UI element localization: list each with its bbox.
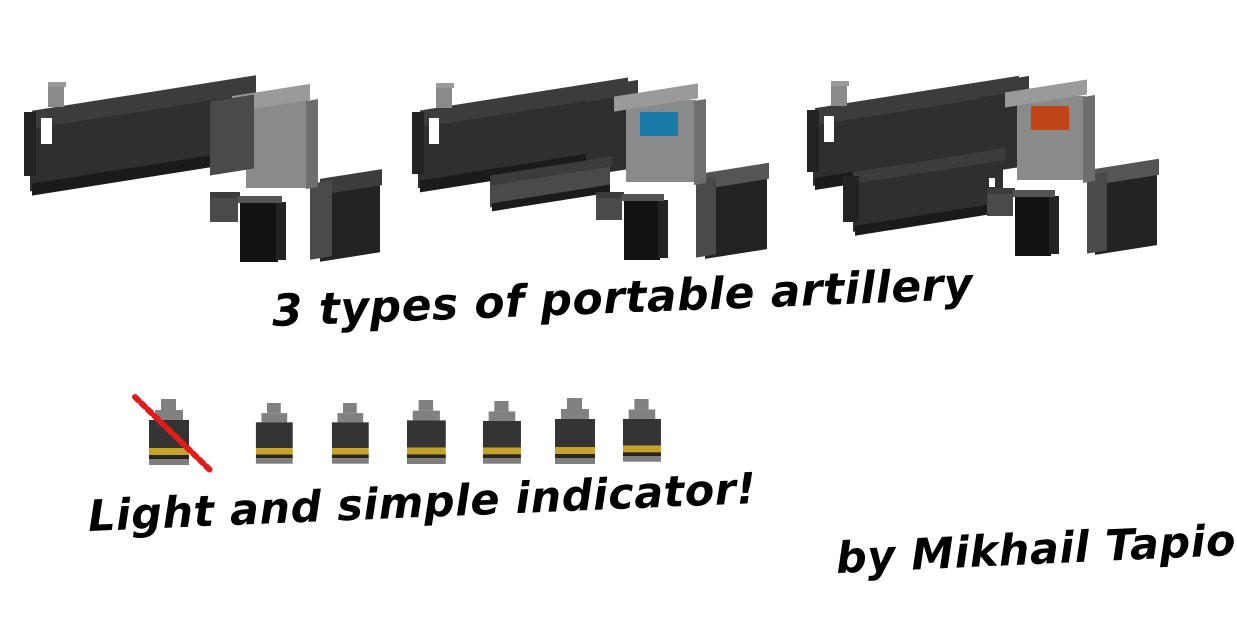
shell-neck: [561, 409, 589, 419]
ammo-shell: [622, 399, 662, 462]
shell-base: [555, 458, 595, 464]
shell-base: [256, 458, 293, 464]
shell-gold-band: [623, 446, 661, 453]
shell-neck: [489, 411, 516, 421]
shell-tip: [634, 399, 648, 409]
shell-tip: [161, 399, 176, 410]
shell-body: [555, 419, 595, 447]
ammo-shell: [482, 401, 522, 464]
shell-gold-band: [407, 448, 446, 455]
shell-gold-band: [149, 448, 189, 455]
shell-neck: [413, 411, 440, 421]
shell-base: [332, 458, 369, 464]
shell-body: [332, 422, 369, 448]
shell-body: [256, 422, 293, 448]
shell-body: [623, 419, 661, 446]
shell-tip: [567, 398, 582, 409]
shell-tip: [494, 401, 508, 411]
shell-body: [483, 421, 521, 448]
promo-image-canvas: 3 types of portable artillery Light and …: [0, 0, 1237, 642]
shell-base: [407, 458, 446, 464]
ammo-shell: [406, 400, 447, 464]
shell-tip: [267, 403, 281, 413]
shell-body: [407, 420, 446, 447]
shell-base: [623, 456, 661, 462]
shell-neck: [629, 409, 656, 419]
shell-neck: [261, 413, 287, 422]
shell-gold-band: [555, 447, 595, 454]
shell-base: [149, 459, 189, 465]
shell-neck: [155, 410, 183, 420]
shell-tip: [419, 400, 434, 411]
ammo-shell: [554, 398, 596, 464]
shell-base: [483, 458, 521, 464]
ammo-shell-depleted: [148, 399, 190, 465]
shell-gold-band: [483, 448, 521, 455]
ammo-shell: [331, 403, 370, 464]
shell-body: [149, 420, 189, 448]
ammo-shell: [255, 403, 294, 464]
shell-tip: [343, 403, 357, 413]
shell-neck: [337, 413, 363, 422]
